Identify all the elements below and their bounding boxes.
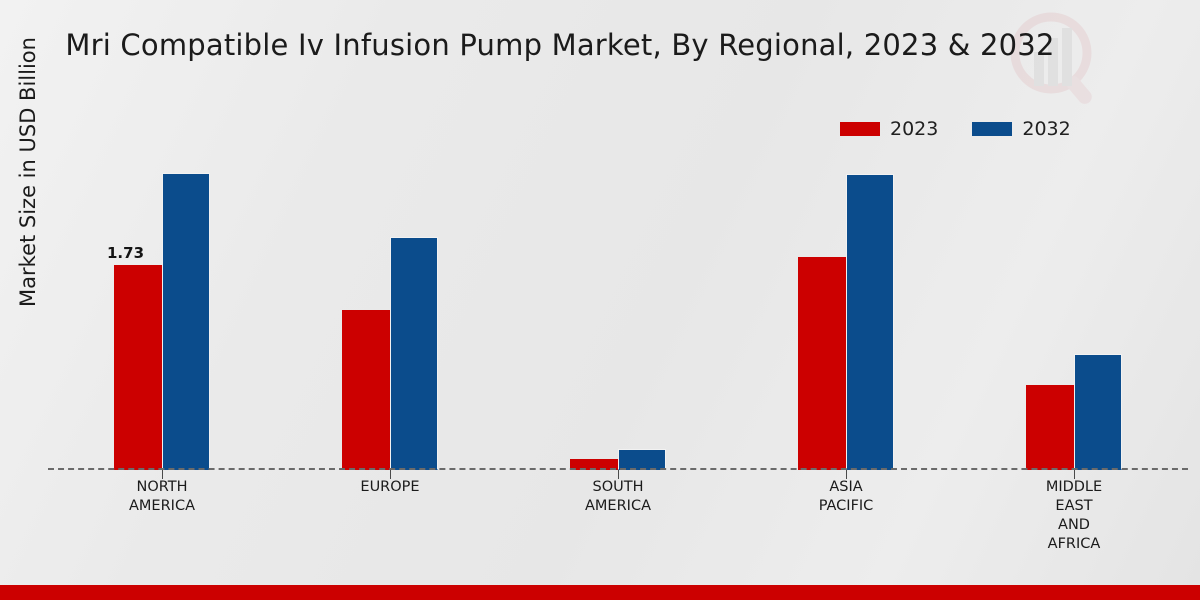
x-axis-label: SOUTHAMERICA <box>504 478 732 554</box>
footer-accent-bar <box>0 585 1200 600</box>
bar-group <box>960 150 1188 470</box>
x-axis-label-line: MIDDLE <box>960 478 1188 497</box>
x-axis-label: EUROPE <box>276 478 504 554</box>
bar-group <box>276 150 504 470</box>
chart-legend: 2023 2032 <box>840 118 1071 140</box>
bar-2023[interactable] <box>1026 385 1074 470</box>
bar-2032[interactable] <box>162 173 210 470</box>
legend-label-2032: 2032 <box>1022 118 1070 140</box>
bar-2032[interactable] <box>846 174 894 470</box>
legend-item-2023[interactable]: 2023 <box>840 118 938 140</box>
x-axis-labels: NORTHAMERICAEUROPESOUTHAMERICAASIAPACIFI… <box>48 478 1188 554</box>
bars-layer: 1.73 <box>48 150 1188 470</box>
legend-item-2032[interactable]: 2032 <box>972 118 1070 140</box>
bar-2023[interactable]: 1.73 <box>114 265 162 470</box>
bar-group: 1.73 <box>48 150 276 470</box>
bar-2032[interactable] <box>390 237 438 470</box>
x-axis-label-line: AFRICA <box>960 535 1188 554</box>
bar-group <box>504 150 732 470</box>
x-axis-label: ASIAPACIFIC <box>732 478 960 554</box>
x-axis-label-line: EAST <box>960 497 1188 516</box>
x-axis-baseline <box>48 468 1188 470</box>
x-axis-label: NORTHAMERICA <box>48 478 276 554</box>
x-axis-label-line: PACIFIC <box>732 497 960 516</box>
x-axis-label-line: AMERICA <box>48 497 276 516</box>
legend-label-2023: 2023 <box>890 118 938 140</box>
bar-2032[interactable] <box>1074 354 1122 470</box>
legend-swatch-2032 <box>972 122 1012 136</box>
x-axis-label-line: NORTH <box>48 478 276 497</box>
x-axis-label-line: AMERICA <box>504 497 732 516</box>
legend-swatch-2023 <box>840 122 880 136</box>
bar-group <box>732 150 960 470</box>
bar-2032[interactable] <box>618 449 666 470</box>
chart-container: Mri Compatible Iv Infusion Pump Market, … <box>0 0 1200 600</box>
x-axis-label: MIDDLEEASTANDAFRICA <box>960 478 1188 554</box>
bar-2023[interactable] <box>798 257 846 470</box>
bar-2023[interactable] <box>342 310 390 470</box>
x-axis-label-line: ASIA <box>732 478 960 497</box>
chart-title: Mri Compatible Iv Infusion Pump Market, … <box>0 28 1120 62</box>
x-axis-label-line: SOUTH <box>504 478 732 497</box>
bar-value-label: 1.73 <box>107 244 144 262</box>
x-axis-label-line: AND <box>960 516 1188 535</box>
x-axis-label-line: EUROPE <box>276 478 504 497</box>
plot-area: 1.73 <box>48 150 1188 470</box>
y-axis-title: Market Size in USD Billion <box>16 0 40 352</box>
